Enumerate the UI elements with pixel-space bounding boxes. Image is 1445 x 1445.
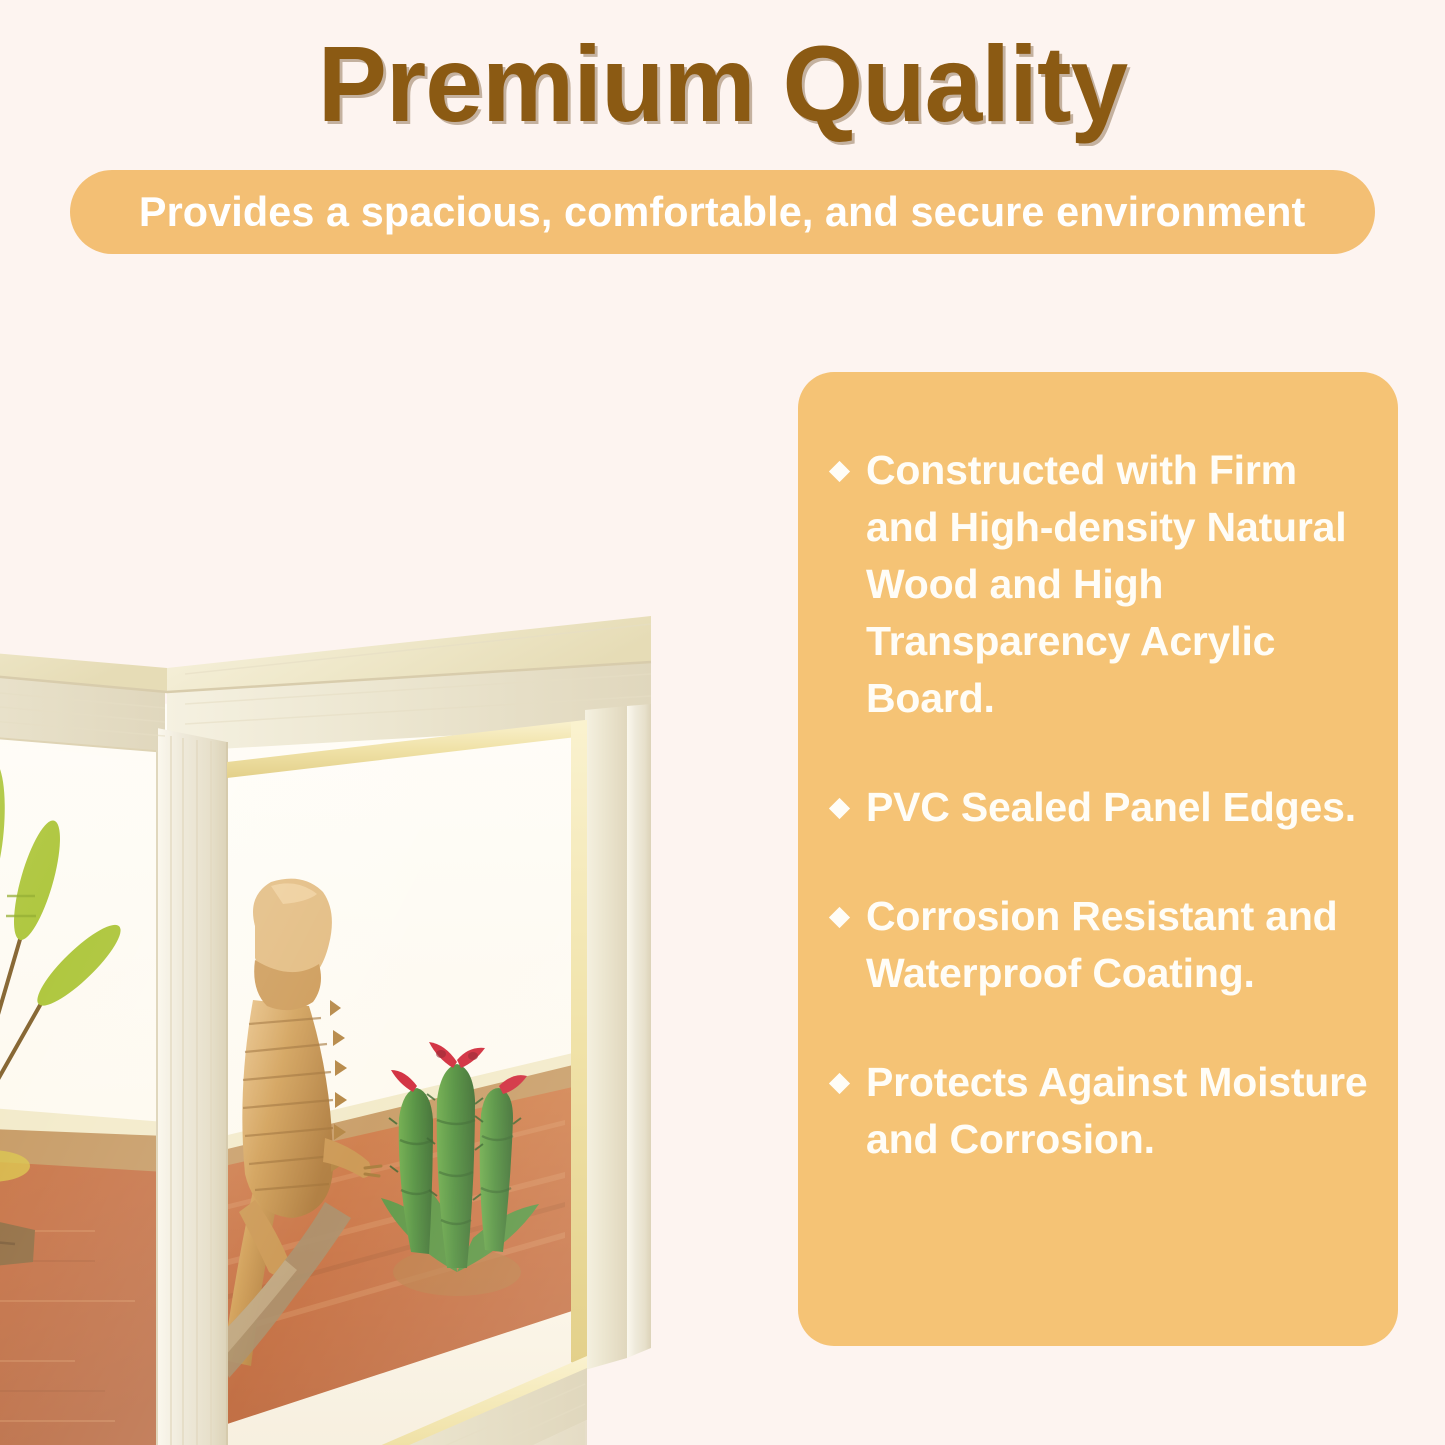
- product-photo: [0, 300, 665, 1445]
- diamond-bullet-icon: [829, 1073, 850, 1094]
- feature-text: Corrosion Resistant and Waterproof Coati…: [866, 888, 1372, 1002]
- feature-item: Corrosion Resistant and Waterproof Coati…: [832, 888, 1372, 1002]
- diamond-bullet-icon: [829, 461, 850, 482]
- subtitle-banner: Provides a spacious, comfortable, and se…: [70, 170, 1375, 254]
- feature-text: PVC Sealed Panel Edges.: [866, 779, 1372, 836]
- subtitle-text: Provides a spacious, comfortable, and se…: [139, 189, 1306, 235]
- feature-item: Constructed with Firm and High-density N…: [832, 442, 1372, 727]
- diamond-bullet-icon: [829, 907, 850, 928]
- feature-text: Constructed with Firm and High-density N…: [866, 442, 1372, 727]
- feature-item: PVC Sealed Panel Edges.: [832, 779, 1372, 836]
- features-panel: Constructed with Firm and High-density N…: [798, 372, 1398, 1346]
- terrarium-illustration: [0, 300, 665, 1445]
- feature-text: Protects Against Moisture and Corrosion.: [866, 1054, 1372, 1168]
- page-title: Premium Quality: [29, 24, 1416, 144]
- acrylic-panels: [0, 718, 575, 1445]
- diamond-bullet-icon: [829, 798, 850, 819]
- feature-item: Protects Against Moisture and Corrosion.: [832, 1054, 1372, 1168]
